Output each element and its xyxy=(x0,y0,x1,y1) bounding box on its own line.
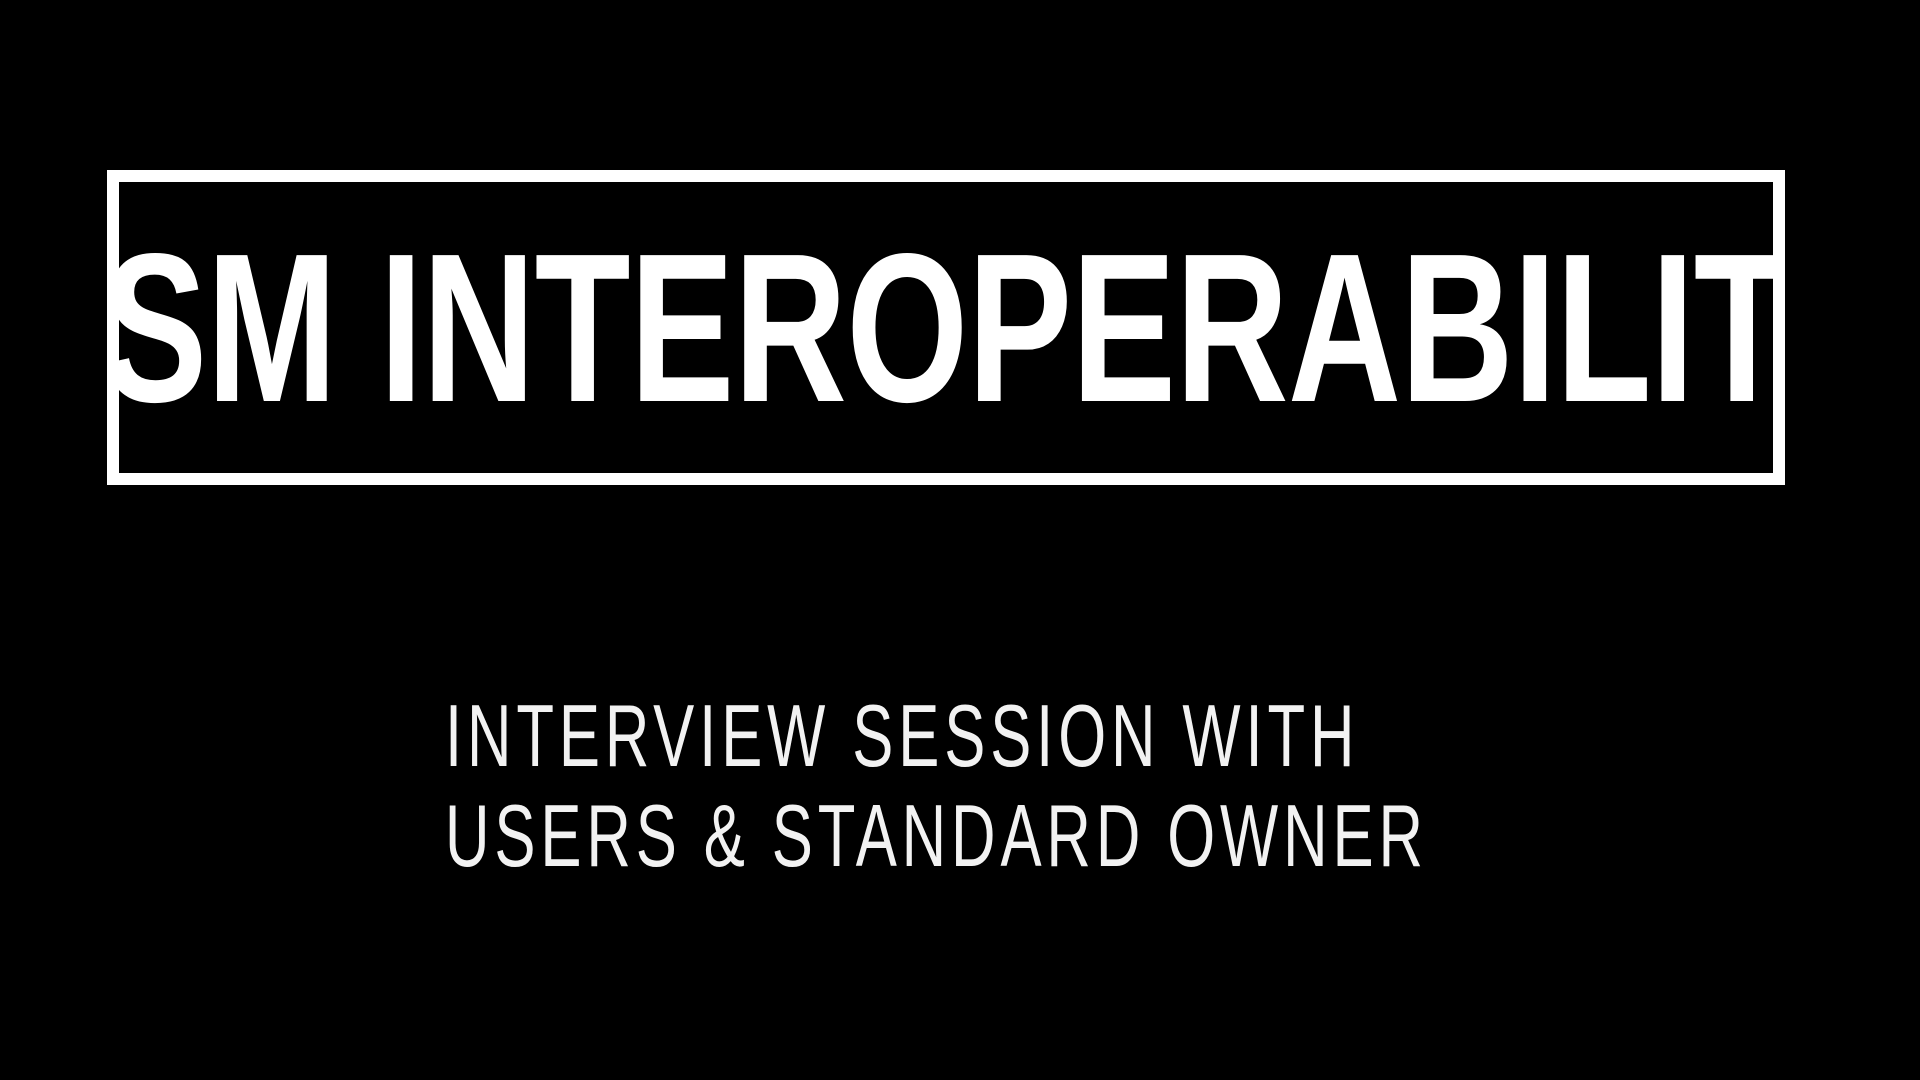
subtitle-line-1: INTERVIEW SESSION WITH xyxy=(445,686,1215,786)
page-title: ESM INTEROPERABILITY xyxy=(119,224,1773,432)
title-slide: ESM INTEROPERABILITY INTERVIEW SESSION W… xyxy=(0,0,1920,1080)
subtitle-line-2: USERS & STANDARD OWNER xyxy=(445,786,1215,886)
title-frame-inner: ESM INTEROPERABILITY xyxy=(119,182,1773,473)
title-frame-border: ESM INTEROPERABILITY xyxy=(107,170,1785,485)
subtitle-block: INTERVIEW SESSION WITH USERS & STANDARD … xyxy=(445,686,1545,887)
